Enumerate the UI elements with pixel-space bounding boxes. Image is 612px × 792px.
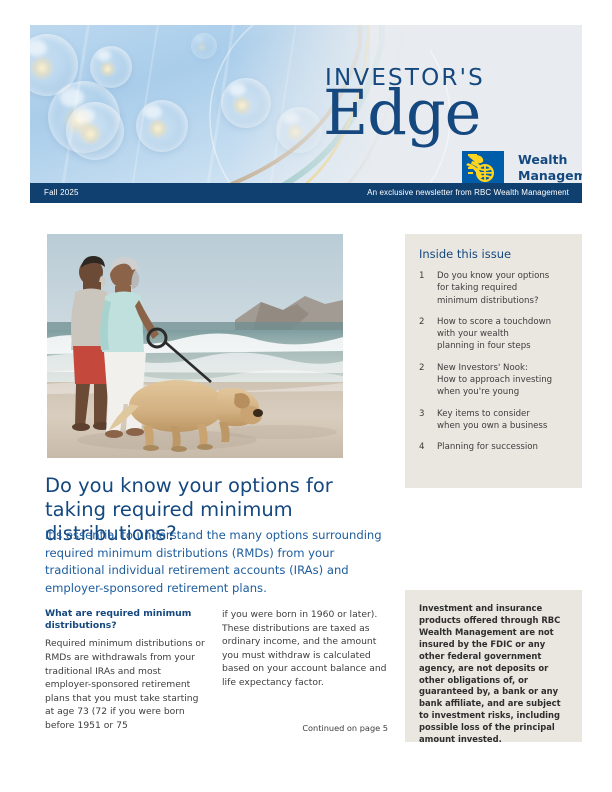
- toc-list: 1 Do you know your options for taking re…: [419, 270, 571, 462]
- article-deck: It's essential to understand the many op…: [45, 527, 390, 597]
- article-body-left: Required minimum distributions or RMDs a…: [45, 637, 208, 732]
- continued-note: Continued on page 5: [222, 723, 388, 733]
- brand-division-line2: Management: [518, 168, 582, 183]
- rbc-lion-globe-glyph: [462, 151, 504, 183]
- disclaimer-panel: Investment and insurance products offere…: [405, 590, 582, 742]
- toc-entry-label: How to score a touchdown with your wealt…: [437, 316, 551, 353]
- rbc-shield-icon: RBC: [462, 151, 504, 183]
- masthead-title-line2: Edge: [323, 82, 480, 144]
- toc-item[interactable]: 3 Key items to consider when you own a b…: [419, 408, 571, 433]
- brand-division-label: Wealth Management: [518, 151, 582, 183]
- beach-scene-illustration: [47, 234, 343, 458]
- toc-entry-label: Do you know your options for taking requ…: [437, 270, 549, 307]
- toc-item[interactable]: 1 Do you know your options for taking re…: [419, 270, 571, 307]
- article-body-right: if you were born in 1960 or later). Thes…: [222, 608, 388, 690]
- toc-page-number: 1: [419, 270, 437, 307]
- toc-page-number: 4: [419, 441, 437, 453]
- article-column-right: if you were born in 1960 or later). Thes…: [222, 608, 388, 690]
- toc-entry-label: New Investors' Nook: How to approach inv…: [437, 362, 552, 399]
- disclaimer-text: Investment and insurance products offere…: [419, 603, 569, 746]
- toc-title: Inside this issue: [419, 247, 511, 261]
- issue-bar: Fall 2025 An exclusive newsletter from R…: [30, 183, 582, 203]
- toc-entry-label: Planning for succession: [437, 441, 538, 453]
- toc-item[interactable]: 2 How to score a touchdown with your wea…: [419, 316, 571, 353]
- masthead: INVESTOR'S Edge: [30, 25, 582, 183]
- hero-photo: [47, 234, 343, 458]
- issue-tagline: An exclusive newsletter from RBC Wealth …: [367, 188, 569, 197]
- article-column-left: What are required minimum distributions?…: [45, 608, 208, 733]
- rbc-logo-lockup: RBC ® Wealth Management: [462, 151, 582, 183]
- brand-division-line1: Wealth: [518, 152, 582, 168]
- newsletter-page: INVESTOR'S Edge: [0, 0, 612, 792]
- toc-item[interactable]: 2 New Investors' Nook: How to approach i…: [419, 362, 571, 399]
- toc-page-number: 3: [419, 408, 437, 433]
- toc-page-number: 2: [419, 316, 437, 353]
- toc-item[interactable]: 4 Planning for succession: [419, 441, 571, 453]
- inside-this-issue-panel: Inside this issue 1 Do you know your opt…: [405, 234, 582, 488]
- toc-page-number: 2: [419, 362, 437, 399]
- article-subhead: What are required minimum distributions?: [45, 608, 208, 632]
- toc-entry-label: Key items to consider when you own a bus…: [437, 408, 547, 433]
- issue-date: Fall 2025: [44, 188, 79, 197]
